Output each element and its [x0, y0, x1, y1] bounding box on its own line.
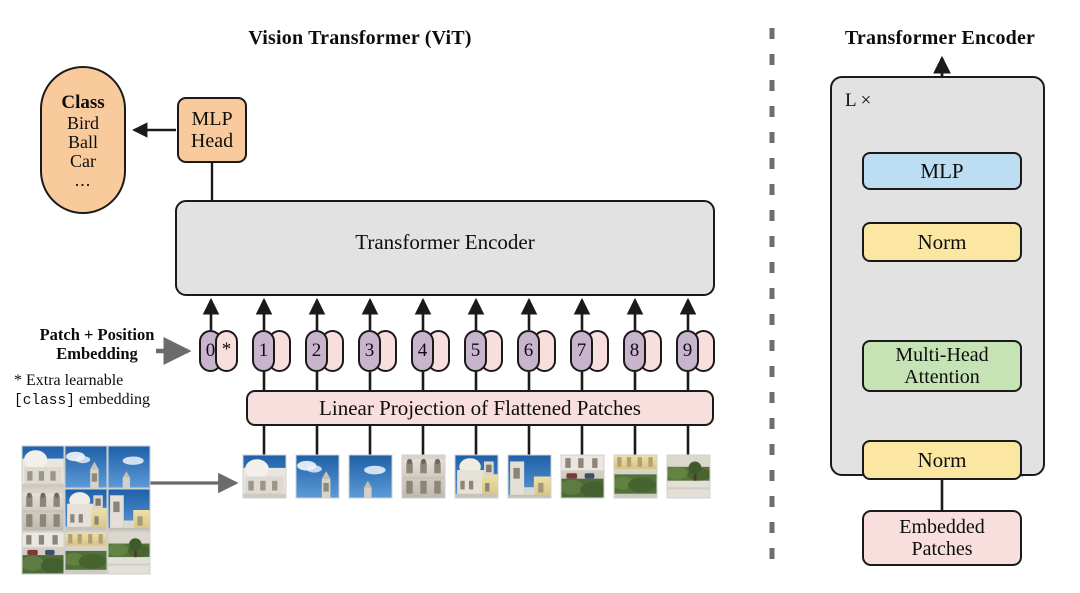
- token-number-capsule: 3: [358, 330, 381, 372]
- token-number-capsule: 6: [517, 330, 540, 372]
- token-number-capsule: 5: [464, 330, 487, 372]
- mlp-block-label: MLP: [920, 159, 963, 184]
- token-3[interactable]: 3: [358, 330, 398, 372]
- multi-head-attention-block: Multi-Head Attention: [862, 340, 1022, 392]
- repeat-count-label: L ×: [845, 90, 893, 112]
- class-box-header: Class: [61, 93, 104, 113]
- token-4[interactable]: 4: [411, 330, 451, 372]
- token-0[interactable]: 0 *: [199, 330, 239, 372]
- token-2[interactable]: 2: [305, 330, 345, 372]
- token-number-capsule: 1: [252, 330, 275, 372]
- linear-projection-label: Linear Projection of Flattened Patches: [319, 396, 641, 421]
- class-ellipsis: ...: [75, 171, 92, 187]
- embedded-patches-line2: Patches: [911, 538, 972, 560]
- diagram-canvas: Vision Transformer (ViT) Transformer Enc…: [0, 0, 1080, 593]
- mha-label-line1: Multi-Head: [895, 344, 988, 366]
- footnote-line1: * Extra learnable: [14, 371, 189, 390]
- class-item: Car: [70, 152, 96, 171]
- footnote-line2: [class] embedding: [14, 390, 189, 410]
- embedded-patches-line1: Embedded: [899, 516, 985, 538]
- token-number-capsule: 2: [305, 330, 328, 372]
- token-position-capsule: *: [215, 330, 238, 372]
- norm-top-block: Norm: [862, 222, 1022, 262]
- transformer-encoder-label: Transformer Encoder: [355, 230, 534, 255]
- linproj-to-token-lines: [264, 372, 688, 390]
- pp-label-line2: Embedding: [8, 345, 186, 364]
- transformer-encoder-block: Transformer Encoder: [175, 200, 715, 296]
- token-9[interactable]: 9: [676, 330, 716, 372]
- token-number-capsule: 4: [411, 330, 434, 372]
- norm-bottom-block: Norm: [862, 440, 1022, 480]
- flattened-patch-strip: [243, 455, 711, 498]
- embedded-patches-block: Embedded Patches: [862, 510, 1022, 566]
- token-6[interactable]: 6: [517, 330, 557, 372]
- linear-projection-block: Linear Projection of Flattened Patches: [246, 390, 714, 426]
- token-number-capsule: 8: [623, 330, 646, 372]
- token-7[interactable]: 7: [570, 330, 610, 372]
- footnote-rest: embedding: [75, 391, 150, 408]
- mlp-head-line1: MLP: [191, 108, 232, 130]
- token-8[interactable]: 8: [623, 330, 663, 372]
- class-item: Bird: [67, 114, 99, 133]
- footnote-mono-token: [class]: [14, 393, 75, 409]
- token-number-capsule: 7: [570, 330, 593, 372]
- pp-label-line1: Patch + Position: [8, 326, 186, 345]
- mlp-head-block: MLP Head: [177, 97, 247, 163]
- class-token-footnote: * Extra learnable [class] embedding: [14, 371, 189, 411]
- mha-label-line2: Attention: [904, 366, 980, 388]
- class-item: Ball: [68, 133, 98, 152]
- source-image-grid: [21, 446, 151, 574]
- class-output-box: Class Bird Ball Car ...: [40, 66, 126, 214]
- norm-bottom-label: Norm: [918, 448, 967, 473]
- token-to-encoder-arrows: [211, 300, 688, 330]
- token-1[interactable]: 1: [252, 330, 292, 372]
- encoder-repeat-container: [830, 76, 1045, 476]
- token-5[interactable]: 5: [464, 330, 504, 372]
- patch-position-embedding-label: Patch + Position Embedding: [8, 326, 186, 364]
- token-number-capsule: 9: [676, 330, 699, 372]
- patch-to-linproj-lines: [264, 426, 688, 455]
- norm-top-label: Norm: [918, 230, 967, 255]
- mlp-block: MLP: [862, 152, 1022, 190]
- mlp-head-line2: Head: [191, 130, 233, 152]
